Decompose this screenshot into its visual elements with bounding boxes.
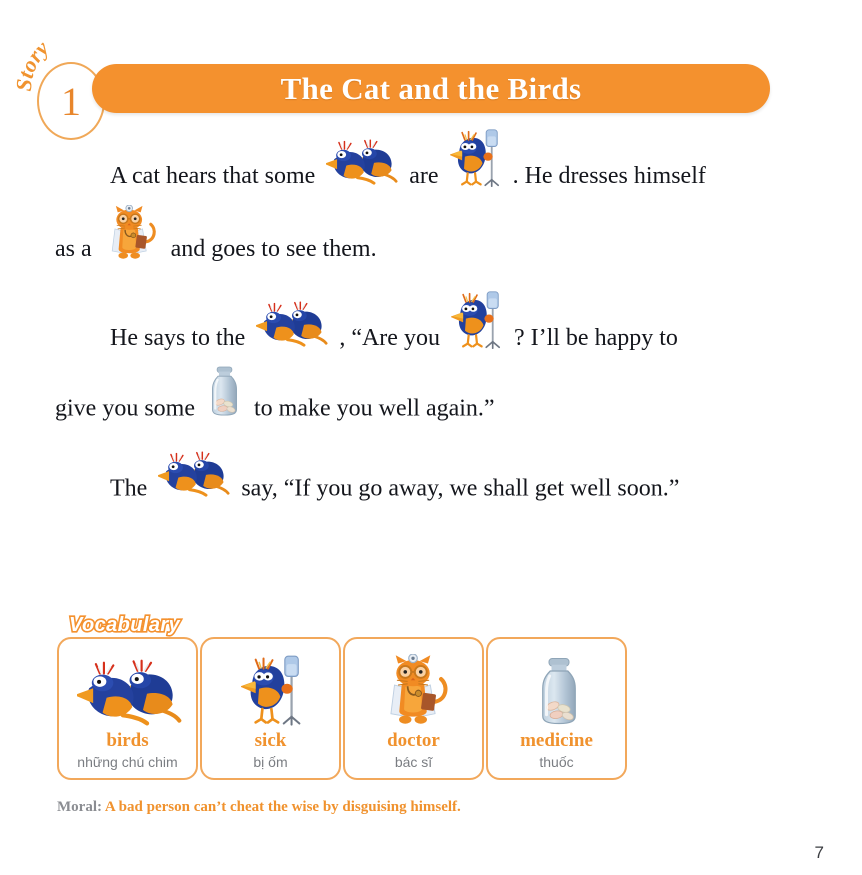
story-text: He says to the (110, 325, 245, 351)
story-text: The (110, 476, 147, 502)
story-number-text: 1 (61, 82, 81, 122)
story-text: as a (55, 236, 92, 262)
title-banner: The Cat and the Birds (92, 64, 770, 113)
story-line: give you some (0, 377, 862, 443)
doctor-cat-art (345, 647, 486, 735)
vocabulary-card-doctor[interactable]: doctorbác sĩ (343, 637, 484, 780)
vocabulary-card-birds[interactable]: birdsnhững chú chim (57, 637, 198, 780)
medicine-bottle-art (488, 647, 629, 735)
story-line: as a (0, 215, 862, 286)
story-text: to make you well again.” (254, 396, 495, 422)
vocabulary-card-sick[interactable]: sickbị ốm (200, 637, 341, 780)
moral-text: A bad person can’t cheat the wise by dis… (105, 799, 461, 815)
story-page: Story 1 The Cat and the Birds A cat hear… (0, 0, 862, 875)
story-paragraph: The (0, 459, 862, 521)
moral-label: Moral: (57, 799, 102, 815)
story-paragraph: He says to the (0, 302, 862, 443)
moral-line: Moral: A bad person can’t cheat the wise… (57, 799, 461, 816)
medicine-bottle-art (206, 365, 243, 431)
story-text: , “Are you (339, 325, 440, 351)
vocabulary-card-row: birdsnhững chú chim (57, 637, 627, 780)
story-line: The (0, 459, 862, 521)
two-birds-art (59, 647, 200, 735)
vocabulary-card-medicine[interactable]: medicinethuốc (486, 637, 627, 780)
story-line: A cat hears that some (0, 140, 862, 215)
story-paragraph: A cat hears that some (0, 140, 862, 286)
page-number: 7 (815, 843, 824, 863)
vocabulary-translation: bác sĩ (395, 755, 432, 769)
story-text: A cat hears that some (110, 163, 315, 189)
story-text: and goes to see them. (171, 236, 377, 262)
sick-bird-iv-art (202, 647, 343, 735)
sick-bird-iv-art (451, 290, 503, 365)
doctor-cat-art (103, 205, 160, 276)
story-text: . He dresses himself (513, 163, 706, 189)
story-paragraphs: A cat hears that some (0, 140, 862, 521)
two-birds-art (256, 299, 328, 361)
story-body: A cat hears that some (0, 140, 862, 537)
story-text: give you some (55, 396, 195, 422)
page-header: Story 1 The Cat and the Birds (0, 24, 862, 136)
story-text: ? I’ll be happy to (514, 325, 678, 351)
story-text: say, “If you go away, we shall get well … (241, 476, 679, 502)
vocabulary-translation: thuốc (539, 755, 573, 769)
story-text: are (409, 163, 438, 189)
story-line: He says to the (0, 302, 862, 377)
two-birds-art (158, 449, 230, 511)
vocabulary-heading: Vocabulary (69, 614, 180, 637)
vocabulary-translation: bị ốm (253, 755, 287, 769)
sick-bird-iv-art (450, 128, 502, 203)
page-title: The Cat and the Birds (92, 64, 770, 113)
two-birds-art (326, 137, 398, 199)
vocabulary-section: Vocabulary (57, 637, 637, 780)
vocabulary-translation: những chú chim (77, 755, 177, 769)
